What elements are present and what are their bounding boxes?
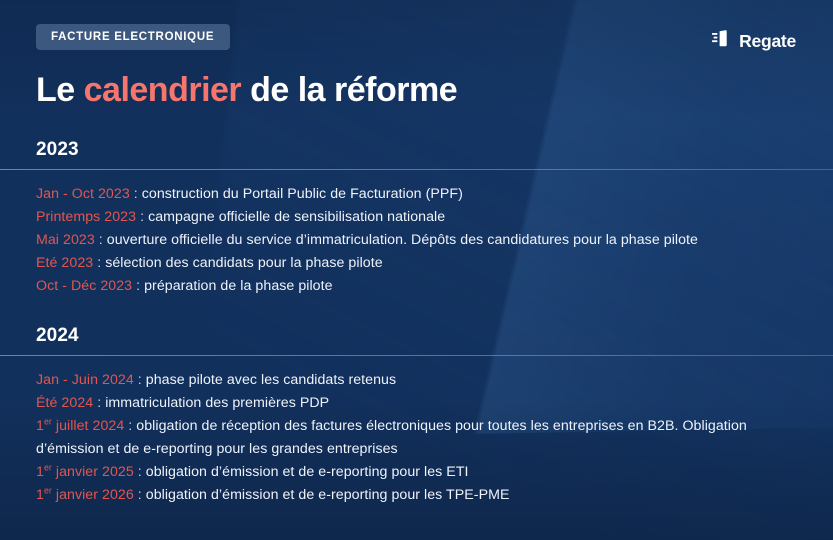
entry-date: Mai 2023 — [36, 232, 95, 248]
title-part-before: Le — [36, 71, 84, 109]
timeline-entry: Jan - Oct 2023 : construction du Portail… — [36, 183, 797, 206]
year-section-2023: 2023Jan - Oct 2023 : construction du Por… — [36, 139, 797, 298]
entry-date: Eté 2023 — [36, 255, 93, 271]
brand-logo: Regate — [712, 24, 796, 52]
entry-description: obligation d’émission et de e-reporting … — [146, 464, 469, 480]
entry-date: Jan - Oct 2023 — [36, 186, 130, 202]
entry-description: construction du Portail Public de Factur… — [142, 186, 463, 202]
regate-sail-icon — [712, 30, 732, 52]
entry-description: obligation d’émission et de e-reporting … — [146, 487, 510, 503]
entry-date-ordinal: er — [44, 485, 52, 495]
entry-separator: : — [132, 278, 144, 294]
entry-date: Été 2024 — [36, 395, 93, 411]
category-badge: FACTURE ELECTRONIQUE — [36, 24, 230, 50]
entry-description: campagne officielle de sensibilisation n… — [148, 209, 445, 225]
timeline-entry: Oct - Déc 2023 : préparation de la phase… — [36, 275, 797, 298]
entry-date: Jan - Juin 2024 — [36, 372, 134, 388]
entry-separator: : — [136, 209, 148, 225]
brand-name: Regate — [739, 31, 796, 52]
entry-separator: : — [93, 255, 105, 271]
entry-description: préparation de la phase pilote — [144, 278, 332, 294]
entry-separator: : — [93, 395, 105, 411]
entry-date-ordinal: er — [44, 462, 52, 472]
timeline-entry: Eté 2023 : sélection des candidats pour … — [36, 252, 797, 275]
entry-description: sélection des candidats pour la phase pi… — [105, 255, 382, 271]
year-section-2024: 2024Jan - Juin 2024 : phase pilote avec … — [36, 325, 797, 507]
timeline-entry: 1er janvier 2026 : obligation d’émission… — [36, 484, 797, 507]
year-heading: 2023 — [36, 139, 797, 169]
page-title: Le calendrier de la réforme — [36, 71, 797, 109]
entry-date: 1er juillet 2024 — [36, 418, 124, 434]
timeline-sections: 2023Jan - Oct 2023 : construction du Por… — [36, 139, 797, 507]
entry-date: 1er janvier 2025 — [36, 464, 134, 480]
entry-date-ordinal: er — [44, 416, 52, 426]
slide-root: FACTURE ELECTRONIQUE Regate Le calendrie… — [0, 0, 833, 540]
entry-date: Oct - Déc 2023 — [36, 278, 132, 294]
entry-description: ouverture officielle du service d’immatr… — [107, 232, 698, 248]
entry-date: Printemps 2023 — [36, 209, 136, 225]
entry-separator: : — [134, 372, 146, 388]
entry-separator: : — [124, 418, 136, 434]
entry-description: obligation de réception des factures éle… — [36, 418, 747, 457]
entry-separator: : — [130, 186, 142, 202]
entry-list: Jan - Oct 2023 : construction du Portail… — [36, 170, 797, 298]
year-heading: 2024 — [36, 325, 797, 355]
entry-list: Jan - Juin 2024 : phase pilote avec les … — [36, 356, 797, 507]
entry-separator: : — [95, 232, 107, 248]
title-accent-word: calendrier — [84, 71, 242, 109]
entry-separator: : — [134, 464, 146, 480]
timeline-entry: Été 2024 : immatriculation des premières… — [36, 392, 797, 415]
entry-description: phase pilote avec les candidats retenus — [146, 372, 396, 388]
entry-description: immatriculation des premières PDP — [105, 395, 329, 411]
title-part-after: de la réforme — [241, 71, 457, 109]
timeline-entry: Mai 2023 : ouverture officielle du servi… — [36, 229, 797, 252]
entry-date: 1er janvier 2026 — [36, 487, 134, 503]
timeline-entry: 1er juillet 2024 : obligation de récepti… — [36, 415, 797, 461]
timeline-entry: Jan - Juin 2024 : phase pilote avec les … — [36, 369, 797, 392]
slide-content: FACTURE ELECTRONIQUE Regate Le calendrie… — [0, 0, 833, 507]
timeline-entry: 1er janvier 2025 : obligation d’émission… — [36, 461, 797, 484]
timeline-entry: Printemps 2023 : campagne officielle de … — [36, 206, 797, 229]
entry-separator: : — [134, 487, 146, 503]
header: FACTURE ELECTRONIQUE Regate — [36, 0, 797, 52]
